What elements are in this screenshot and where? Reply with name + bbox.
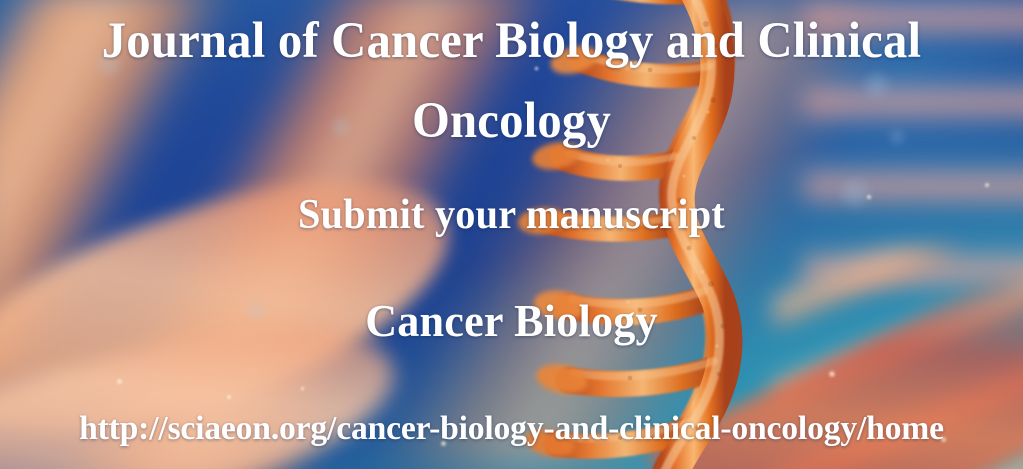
journal-url-text[interactable]: http://sciaeon.org/cancer-biology-and-cl… bbox=[5, 408, 1018, 450]
submit-manuscript-callout: Submit your manuscript bbox=[20, 190, 1002, 240]
page-title-line-2: Oncology bbox=[23, 92, 1000, 150]
topic-heading: Cancer Biology bbox=[20, 294, 1002, 348]
journal-banner: Journal of Cancer Biology and Clinical O… bbox=[0, 0, 1023, 469]
page-title-line-1: Journal of Cancer Biology and Clinical bbox=[23, 12, 1000, 70]
